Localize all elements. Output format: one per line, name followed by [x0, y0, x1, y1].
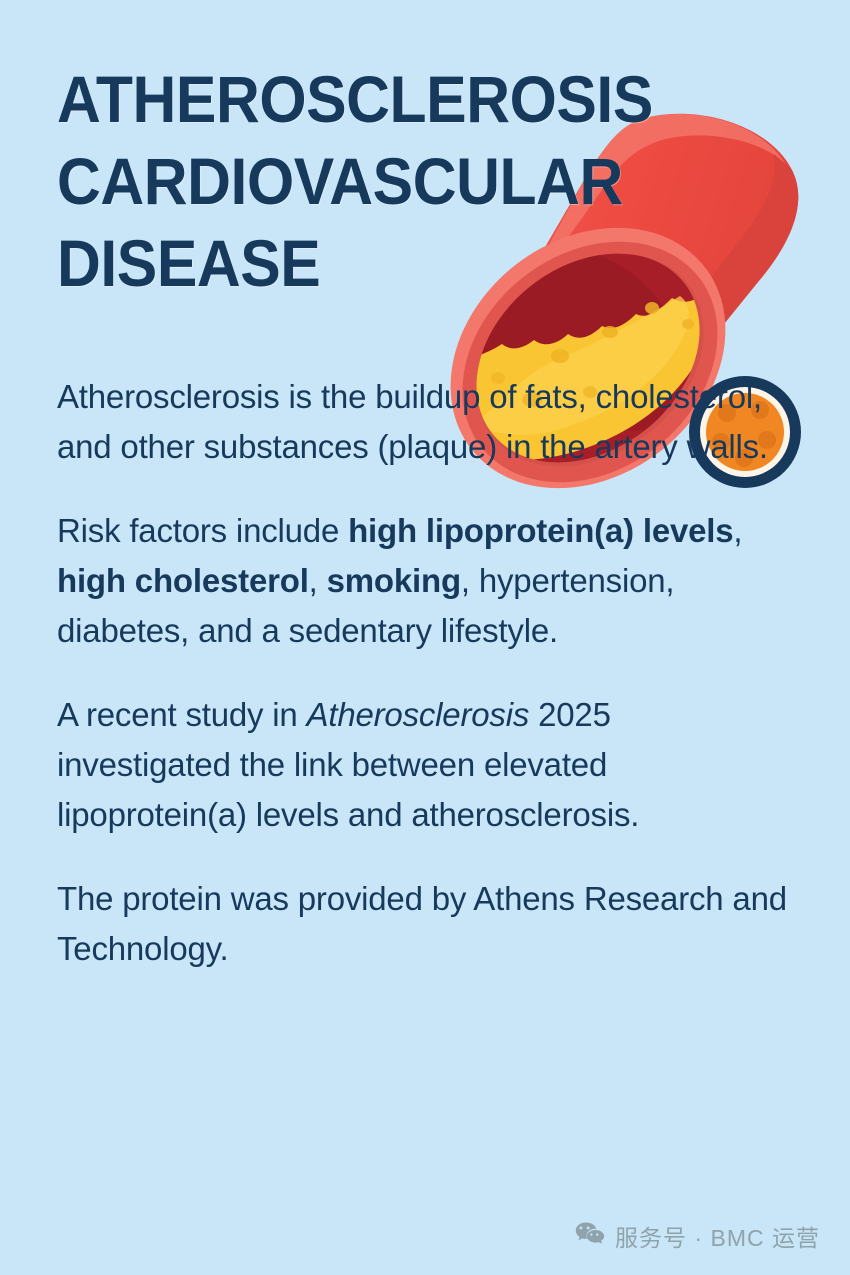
attribution-text: The protein was provided by Athens Resea… [57, 880, 787, 967]
page-title: ATHEROSCLEROSIS CARDIOVASCULAR DISEASE [57, 58, 657, 304]
title-line-1: ATHEROSCLEROSIS [57, 58, 609, 140]
risk-bold-smoking: smoking [327, 562, 461, 599]
definition-text: Atherosclerosis is the buildup of fats, … [57, 378, 768, 465]
paragraph-attribution: The protein was provided by Athens Resea… [57, 874, 787, 974]
study-journal-name: Atherosclerosis [307, 696, 530, 733]
paragraph-definition: Atherosclerosis is the buildup of fats, … [57, 372, 787, 472]
risk-sep-1: , [733, 512, 742, 549]
watermark-text: 服务号 · BMC 运营 [615, 1219, 820, 1253]
study-intro-text: A recent study in [57, 696, 307, 733]
paragraph-risk-factors: Risk factors include high lipoprotein(a)… [57, 506, 787, 656]
poster-canvas: ATHEROSCLEROSIS CARDIOVASCULAR DISEASE A… [0, 0, 850, 1275]
paragraph-study: A recent study in Atherosclerosis 2025 i… [57, 690, 787, 840]
title-line-3: DISEASE [57, 222, 609, 304]
title-line-2: CARDIOVASCULAR [57, 140, 609, 222]
body-content: Atherosclerosis is the buildup of fats, … [57, 372, 787, 974]
risk-sep-2: , [309, 562, 327, 599]
wechat-icon [575, 1221, 605, 1252]
risk-intro-text: Risk factors include [57, 512, 348, 549]
risk-bold-lipoprotein: high lipoprotein(a) levels [348, 512, 733, 549]
risk-bold-cholesterol: high cholesterol [57, 562, 309, 599]
watermark: 服务号 · BMC 运营 [575, 1219, 820, 1253]
